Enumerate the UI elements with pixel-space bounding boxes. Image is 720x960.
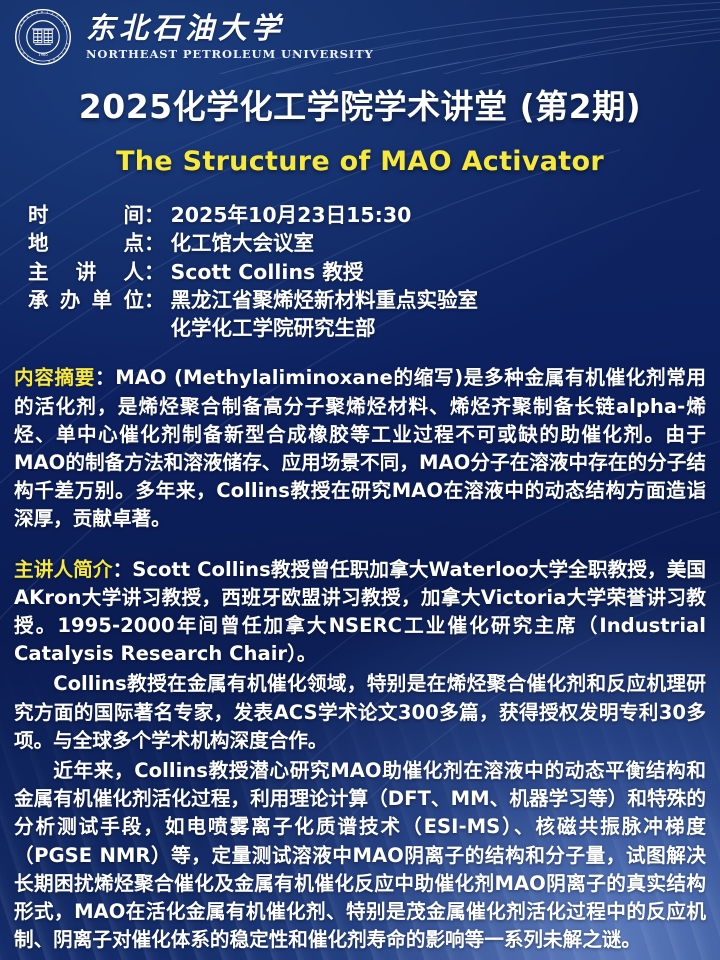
- info-label-speaker: 主讲人: [28, 258, 144, 286]
- speaker-bio-block: 主讲人简介：Scott Collins教授曾任职加拿大Waterloo大学全职教…: [14, 556, 706, 955]
- info-row-time: 时间 ： 2025年10月23日15:30: [28, 201, 706, 229]
- bio-paragraph-3: 近年来，Collins教授潜心研究MAO助催化剂在溶液中的动态平衡结构和金属有机…: [14, 757, 706, 954]
- info-colon-time: ：: [144, 201, 165, 229]
- info-row-host: 承办单位 ： 黑龙江省聚烯烃新材料重点实验室: [28, 286, 706, 314]
- bio-label: 主讲人简介: [14, 558, 113, 581]
- bio-paragraph-2: Collins教授在金属有机催化领域，特别是在烯烃聚合催化剂和反应机理研究方面的…: [14, 670, 706, 755]
- poster-content: 2025化学化工学院学术讲堂 (第2期) The Structure of MA…: [0, 0, 720, 954]
- info-label-location: 地点: [28, 229, 144, 257]
- info-row-location: 地点 ： 化工馆大会议室: [28, 229, 706, 257]
- info-value-time: 2025年10月23日15:30: [171, 201, 412, 229]
- bio-colon: ：: [113, 558, 133, 581]
- lecture-info-block: 时间 ： 2025年10月23日15:30 地点 ： 化工馆大会议室 主讲人 ：…: [28, 201, 706, 342]
- info-row-host-second: 承办单位 ： 化学化工学院研究生部: [28, 314, 706, 342]
- info-colon-speaker: ：: [144, 258, 165, 286]
- info-value-location: 化工馆大会议室: [171, 229, 315, 257]
- abstract-paragraph: 内容摘要：MAO (Methylaliminoxane的缩写)是多种金属有机催化…: [14, 364, 706, 533]
- info-colon-location: ：: [144, 229, 165, 257]
- info-row-speaker: 主讲人 ： Scott Collins 教授: [28, 258, 706, 286]
- bio-paragraph-1: 主讲人简介：Scott Collins教授曾任职加拿大Waterloo大学全职教…: [14, 556, 706, 669]
- abstract-text: MAO (Methylaliminoxane的缩写)是多种金属有机催化剂常用的活…: [14, 366, 706, 530]
- lecture-subtitle: The Structure of MAO Activator: [14, 146, 706, 177]
- info-value-host-second: 化学化工学院研究生部: [171, 314, 376, 342]
- abstract-label: 内容摘要: [14, 366, 95, 389]
- abstract-colon: ：: [95, 366, 115, 389]
- abstract-block: 内容摘要：MAO (Methylaliminoxane的缩写)是多种金属有机催化…: [14, 364, 706, 533]
- info-label-time: 时间: [28, 201, 144, 229]
- info-value-speaker: Scott Collins 教授: [171, 258, 364, 286]
- lecture-poster: N O R T H E A S T P E U N I V E R: [0, 0, 720, 960]
- info-label-host: 承办单位: [28, 286, 144, 314]
- info-value-host: 黑龙江省聚烯烃新材料重点实验室: [171, 286, 479, 314]
- page-title: 2025化学化工学院学术讲堂 (第2期): [14, 88, 706, 126]
- info-colon-host: ：: [144, 286, 165, 314]
